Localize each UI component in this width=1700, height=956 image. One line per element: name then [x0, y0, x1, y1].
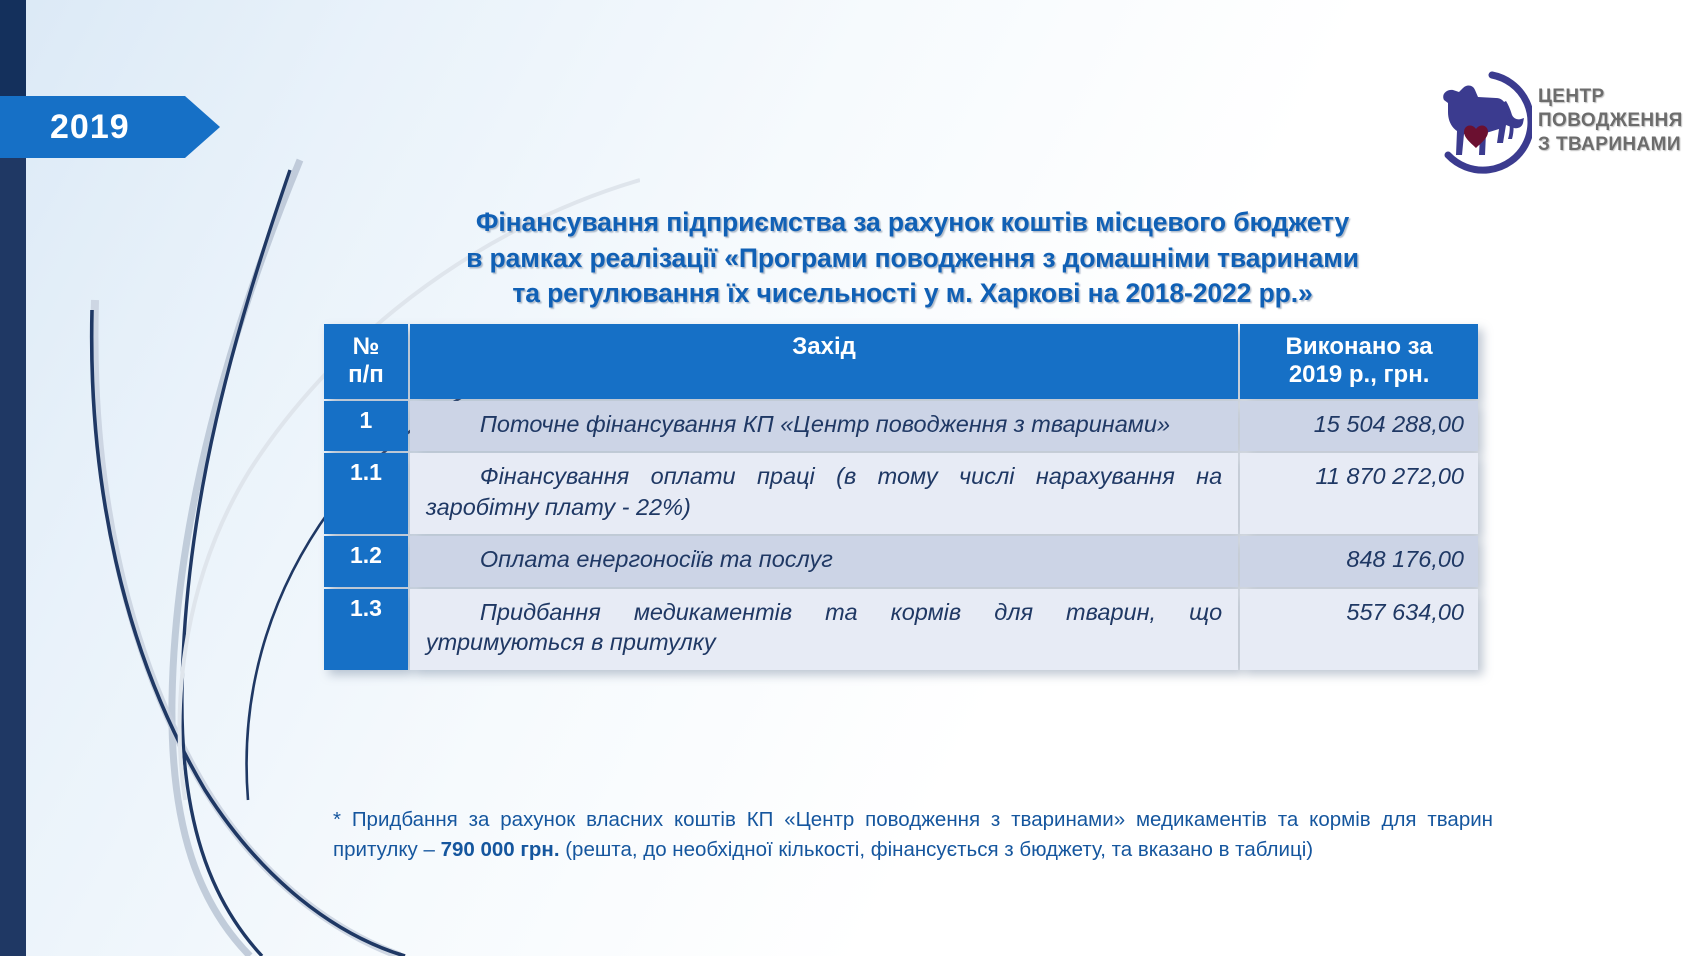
footnote: * Придбання за рахунок власних коштів КП…: [333, 805, 1493, 864]
table-header-row: № п/п Захід Виконано за 2019 р., грн.: [324, 324, 1478, 399]
header-number-line-2: п/п: [334, 361, 398, 389]
footnote-part-2: (решта, до необхідної кількості, фінансу…: [560, 838, 1314, 861]
table-row: 1.1 Фінансування оплати праці (в тому чи…: [324, 453, 1478, 534]
slide-canvas: 2019 ЦЕНТР ПОВОДЖЕННЯ З ТВАРИНАМИ Фінанс…: [0, 0, 1700, 956]
row-measure: Придбання медикаментів та кормів для тва…: [410, 589, 1238, 670]
row-measure: Фінансування оплати праці (в тому числі …: [410, 453, 1238, 534]
table-row: 1.2 Оплата енергоносіїв та послуг 848 17…: [324, 536, 1478, 587]
footnote-amount: 790 000 грн.: [441, 838, 560, 861]
row-index: 1.1: [324, 453, 408, 534]
organization-logo: ЦЕНТР ПОВОДЖЕННЯ З ТВАРИНАМИ: [1422, 62, 1682, 180]
title-line-3: та регулювання їх чисельності у м. Харко…: [330, 276, 1495, 312]
title-line-2: в рамках реалізації «Програми поводження…: [330, 241, 1495, 277]
table-row: 1.3 Придбання медикаментів та кормів для…: [324, 589, 1478, 670]
left-navy-band-top: [0, 0, 26, 96]
slide-title: Фінансування підприємства за рахунок кош…: [330, 205, 1495, 312]
table-body: 1 Поточне фінансування КП «Центр поводже…: [324, 401, 1478, 670]
header-number-line-1: №: [334, 333, 398, 361]
title-line-1: Фінансування підприємства за рахунок кош…: [330, 205, 1495, 241]
row-index: 1.3: [324, 589, 408, 670]
header-done: Виконано за 2019 р., грн.: [1240, 324, 1478, 399]
header-number: № п/п: [324, 324, 408, 399]
row-index: 1: [324, 401, 408, 452]
dog-in-circle-with-heart-icon: [1422, 65, 1532, 177]
logo-wordmark: ЦЕНТР ПОВОДЖЕННЯ З ТВАРИНАМИ: [1538, 85, 1683, 158]
row-value: 11 870 272,00: [1240, 453, 1478, 534]
table-head: № п/п Захід Виконано за 2019 р., грн.: [324, 324, 1478, 399]
year-label: 2019: [50, 97, 170, 157]
table-row: 1 Поточне фінансування КП «Центр поводже…: [324, 401, 1478, 452]
row-measure: Поточне фінансування КП «Центр поводженн…: [410, 401, 1238, 452]
row-index: 1.2: [324, 536, 408, 587]
logo-line-3: З ТВАРИНАМИ: [1538, 133, 1683, 157]
row-value: 848 176,00: [1240, 536, 1478, 587]
row-measure: Оплата енергоносіїв та послуг: [410, 536, 1238, 587]
financing-table: № п/п Захід Виконано за 2019 р., грн. 1 …: [322, 322, 1480, 672]
header-measure: Захід: [410, 324, 1238, 399]
financing-table-wrapper: № п/п Захід Виконано за 2019 р., грн. 1 …: [322, 322, 1480, 672]
row-value: 557 634,00: [1240, 589, 1478, 670]
row-value: 15 504 288,00: [1240, 401, 1478, 452]
header-done-line-1: Виконано за: [1250, 333, 1468, 361]
header-done-line-2: 2019 р., грн.: [1250, 361, 1468, 389]
logo-line-1: ЦЕНТР: [1538, 85, 1683, 109]
logo-line-2: ПОВОДЖЕННЯ: [1538, 109, 1683, 133]
